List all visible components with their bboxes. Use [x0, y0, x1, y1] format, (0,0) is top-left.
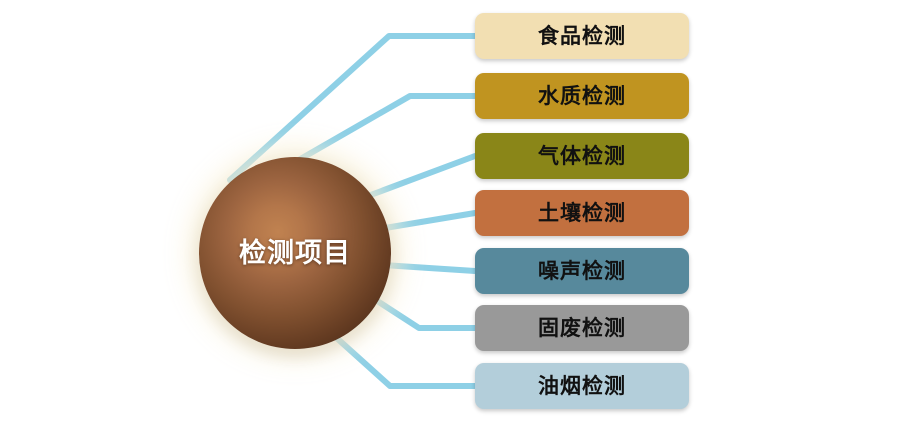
hub-node-label: 检测项目	[239, 240, 351, 267]
node-box-oil-fume-testing[interactable]: 油烟检测	[475, 363, 689, 409]
connector-line	[383, 265, 475, 271]
node-box-gas-testing[interactable]: 气体检测	[475, 133, 689, 179]
hub-node-detection-projects[interactable]: 检测项目	[199, 157, 391, 349]
node-box-noise-testing[interactable]: 噪声检测	[475, 248, 689, 294]
node-label: 水质检测	[538, 86, 626, 107]
node-label: 食品检测	[538, 26, 626, 47]
node-box-solid-waste-testing[interactable]: 固废检测	[475, 305, 689, 351]
connector-line	[330, 332, 475, 386]
connector-layer	[0, 0, 900, 426]
connector-line	[365, 293, 475, 328]
node-box-water-quality-testing[interactable]: 水质检测	[475, 73, 689, 119]
node-label: 土壤检测	[538, 203, 626, 224]
node-label: 油烟检测	[538, 376, 626, 397]
node-label: 噪声检测	[538, 261, 626, 282]
connector-line	[230, 36, 475, 180]
diagram-canvas: 检测项目 食品检测 水质检测 气体检测 土壤检测 噪声检测 固废检测 油烟检测	[0, 0, 900, 426]
node-label: 气体检测	[538, 146, 626, 167]
node-box-soil-testing[interactable]: 土壤检测	[475, 190, 689, 236]
node-label: 固废检测	[538, 318, 626, 339]
connector-line	[385, 213, 475, 228]
connector-line	[368, 156, 475, 196]
node-box-food-testing[interactable]: 食品检测	[475, 13, 689, 59]
